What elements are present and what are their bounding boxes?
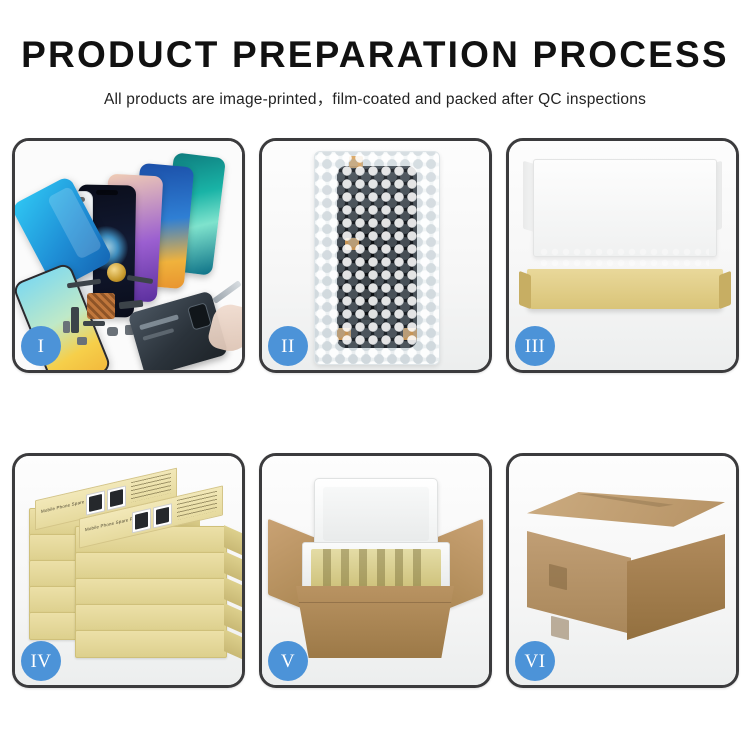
step-badge-5: V — [268, 641, 308, 681]
step-badge-3: III — [515, 326, 555, 366]
process-step-6: VI — [506, 453, 739, 688]
bubble-wrap-bag — [314, 151, 440, 365]
box-lid — [533, 159, 717, 257]
step-badge-2: II — [268, 326, 308, 366]
chip-grid-part — [87, 293, 115, 319]
process-grid: I II — [12, 138, 738, 688]
packed-retail-boxes — [311, 549, 441, 591]
process-step-2: II — [259, 138, 492, 373]
page-title: PRODUCT PREPARATION PROCESS — [0, 36, 750, 73]
sealed-carton — [527, 492, 725, 640]
process-step-4: Mobile Phone Spare Parts Mobile Phone Sp… — [12, 453, 245, 688]
speaker-coil-part — [107, 263, 126, 282]
step-badge-6: VI — [515, 641, 555, 681]
page-subtitle: All products are image-printed，film-coat… — [0, 87, 750, 109]
kraft-box-base — [527, 269, 723, 309]
product-preparation-page: PRODUCT PREPARATION PROCESS All products… — [0, 0, 750, 750]
step-badge-4: IV — [21, 641, 61, 681]
carton-body — [296, 586, 454, 658]
page-header: PRODUCT PREPARATION PROCESS All products… — [0, 0, 750, 109]
process-step-1: I — [12, 138, 245, 373]
carton-side-face — [627, 534, 725, 640]
carton-front-face — [527, 522, 631, 634]
carton-tab-upper — [549, 564, 567, 590]
step-badge-1: I — [21, 326, 61, 366]
box-stack: Mobile Phone Spare Parts Mobile Phone Sp… — [29, 482, 235, 662]
carton-tab-lower — [551, 616, 569, 640]
process-step-5: V — [259, 453, 492, 688]
foam-box-lid — [314, 478, 438, 550]
process-step-3: III — [506, 138, 739, 373]
